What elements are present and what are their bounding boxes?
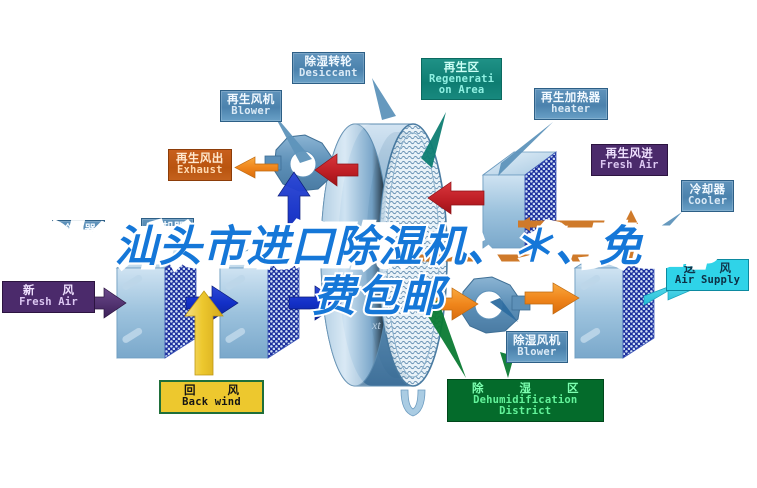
- cooler-unit-right: [575, 248, 654, 358]
- label-exhaust: 再生风出 Exhaust: [168, 149, 232, 181]
- label-back-wind-en: Back wind: [170, 397, 253, 408]
- regeneration-heater-unit: [483, 152, 556, 248]
- label-cooler-middle: 冷却器 Cooler: [141, 218, 194, 250]
- label-air-supply-en: Air Supply: [674, 275, 741, 286]
- condensate-drain: [401, 390, 425, 416]
- label-regeneration-area-en2: on Area: [429, 85, 494, 96]
- label-desiccant-rotor-en: Desiccant: [299, 68, 358, 79]
- label-cooler-right: 冷却器 Cooler: [681, 180, 734, 212]
- diagram-svg: [0, 0, 757, 488]
- blower-to-cooler-arrow: [525, 283, 579, 314]
- diagram-canvas: xt 除湿转轮 Desiccant 再生风机 Blower 再生区 Regene…: [0, 0, 757, 488]
- label-cooler-middle-en: Cooler: [148, 234, 187, 245]
- label-regeneration-blower-en: Blower: [227, 106, 275, 117]
- label-air-supply: 送 风 Air Supply: [666, 259, 749, 291]
- label-back-wind: 回 风 Back wind: [159, 380, 264, 414]
- label-desiccant-rotor: 除湿转轮 Desiccant: [292, 52, 365, 84]
- label-cooler-right-en: Cooler: [688, 196, 727, 207]
- label-regeneration-heater-en: heater: [541, 104, 601, 115]
- label-dehumidification-district-en2: District: [456, 406, 595, 417]
- label-dehumidification-blower-en: Blower: [513, 347, 561, 358]
- label-regeneration-fresh-air-en: Fresh Air: [600, 160, 659, 171]
- label-regeneration-area: 再生区 Regenerati on Area: [421, 58, 502, 100]
- label-fresh-air-inlet-en: Fresh Air: [11, 297, 86, 308]
- label-dehumidification-district: 除 湿 区 Dehumidification District: [447, 379, 604, 422]
- label-regeneration-fresh-air: 再生风进 Fresh Air: [591, 144, 668, 176]
- label-exhaust-en: Exhaust: [176, 165, 224, 176]
- label-cooler-left-en: Cooler: [59, 236, 98, 247]
- label-regeneration-heater: 再生加热器 heater: [534, 88, 608, 120]
- label-fresh-air-inlet: 新 风 Fresh Air: [2, 281, 95, 313]
- label-regeneration-blower: 再生风机 Blower: [220, 90, 282, 122]
- cooler-unit-left: [117, 248, 196, 358]
- label-cooler-left: 冷却器 Cooler: [52, 220, 105, 252]
- label-dehumidification-blower: 除湿风机 Blower: [506, 331, 568, 363]
